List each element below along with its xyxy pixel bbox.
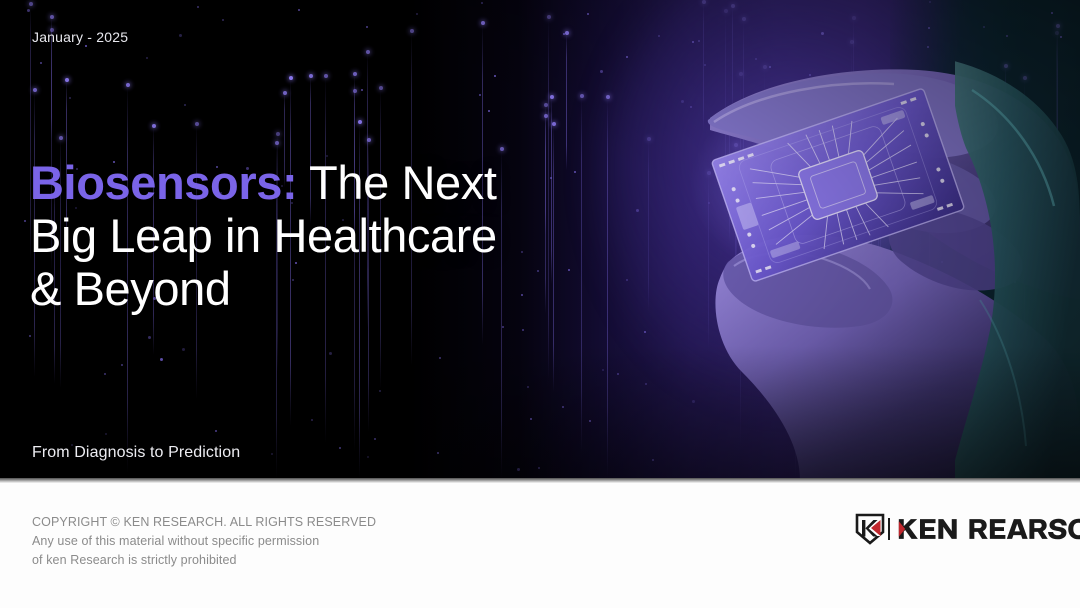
ken-research-logo bbox=[855, 512, 1080, 546]
page-title: Biosensors: The Next Big Leap in Healthc… bbox=[30, 156, 497, 315]
hero-banner: January - 2025 Biosensors: The Next Big … bbox=[0, 0, 1080, 480]
ken-shield-icon bbox=[855, 513, 885, 545]
issue-date: January - 2025 bbox=[32, 29, 128, 45]
title-accent: Biosensors: bbox=[30, 156, 297, 209]
page-subtitle: From Diagnosis to Prediction bbox=[32, 444, 240, 462]
copyright-text: COPYRIGHT © KEN RESEARCH. ALL RIGHTS RES… bbox=[32, 513, 376, 570]
slide-root: January - 2025 Biosensors: The Next Big … bbox=[0, 0, 1080, 608]
logo-divider bbox=[888, 518, 890, 540]
ken-research-wordmark bbox=[896, 517, 1080, 541]
